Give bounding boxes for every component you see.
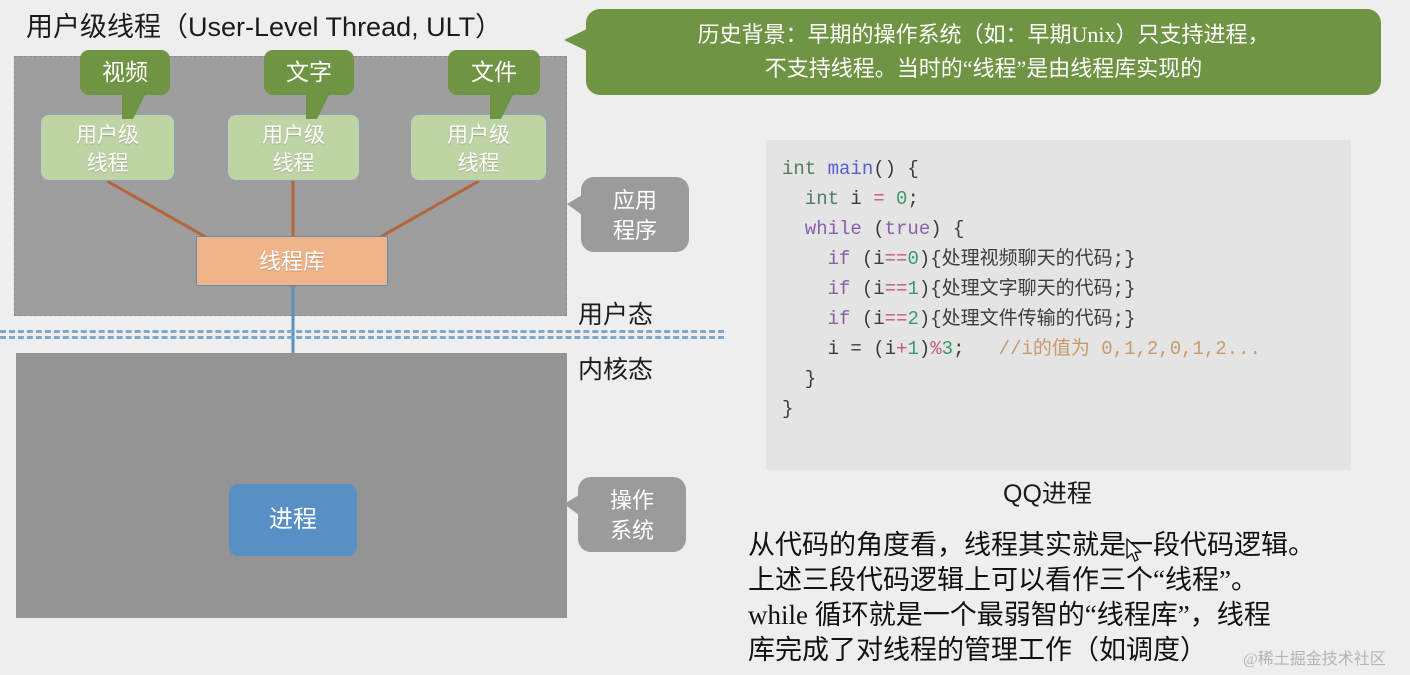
code-token: ;	[907, 188, 918, 210]
bubble-video-label: 视频	[102, 60, 148, 85]
code-token: ){处理文件传输的代码;}	[919, 308, 1136, 330]
code-token: ){处理视频聊天的代码;}	[919, 248, 1136, 270]
user-level-thread-box-2: 用户级 线程	[227, 114, 360, 181]
history-callout-line-1: 历史背景：早期的操作系统（如：早期Unix）只支持进程，	[608, 18, 1359, 52]
explanation-line-1: 从代码的角度看，线程其实就是一段代码逻辑。	[748, 528, 1398, 563]
code-line-2: int i = 0;	[782, 184, 1351, 214]
code-token: 2	[907, 308, 918, 330]
bubble-file: 文件	[448, 50, 540, 95]
code-token: 1	[907, 278, 918, 300]
watermark: @稀土掘金技术社区	[1243, 645, 1386, 669]
bubble-file-label: 文件	[471, 60, 517, 85]
code-token: (i	[862, 248, 885, 270]
bubble-tail-icon	[490, 93, 514, 119]
code-token: if	[782, 308, 862, 330]
ult-box-1-line-1: 用户级	[41, 121, 174, 149]
ult-box-1-line-2: 线程	[41, 149, 174, 177]
callout-tail-icon	[564, 495, 579, 515]
mouse-cursor-icon	[1126, 538, 1144, 564]
code-token: while	[782, 218, 873, 240]
code-token: i	[850, 188, 873, 210]
callout-os-line-2: 系统	[578, 516, 686, 546]
code-line-1: int main() {	[782, 154, 1351, 184]
code-token: (	[873, 218, 884, 240]
code-token: main	[828, 158, 874, 180]
code-caption: QQ进程	[1003, 474, 1092, 510]
code-token: }	[782, 398, 793, 420]
ult-box-2-line-2: 线程	[228, 149, 359, 177]
code-line-5: if (i==1){处理文字聊天的代码;}	[782, 274, 1351, 304]
code-line-4: if (i==0){处理视频聊天的代码;}	[782, 244, 1351, 274]
code-token: ==	[885, 278, 908, 300]
callout-application-line-1: 应用	[581, 186, 689, 216]
code-token: int	[782, 188, 850, 210]
code-line-7: i = (i+1)%3; //i的值为 0,1,2,0,1,2...	[782, 334, 1351, 364]
code-line-8: }	[782, 364, 1351, 394]
callout-application-line-2: 程序	[581, 216, 689, 246]
label-kernel-mode: 内核态	[578, 350, 653, 386]
code-token: if	[782, 278, 862, 300]
callout-operating-system: 操作 系统	[578, 477, 686, 552]
code-token: int	[782, 158, 828, 180]
callout-application: 应用 程序	[581, 177, 689, 252]
bubble-text-label: 文字	[286, 60, 332, 85]
code-line-9: }	[782, 394, 1351, 424]
ult-box-2-line-1: 用户级	[228, 121, 359, 149]
callout-tail-icon	[564, 29, 587, 51]
code-token: i = (i	[782, 338, 896, 360]
user-level-thread-box-3: 用户级 线程	[410, 114, 547, 181]
code-token: 0	[907, 248, 918, 270]
code-token: }	[782, 368, 816, 390]
code-snippet: int main() { int i = 0; while (true) { i…	[766, 140, 1351, 470]
code-token: (i	[862, 308, 885, 330]
bubble-tail-icon	[306, 93, 330, 119]
history-background-callout: 历史背景：早期的操作系统（如：早期Unix）只支持进程， 不支持线程。当时的“线…	[586, 9, 1381, 95]
process-box: 进程	[229, 484, 357, 556]
code-token: () {	[873, 158, 919, 180]
code-token: ==	[885, 308, 908, 330]
bubble-tail-icon	[122, 93, 146, 119]
code-token: ;	[953, 338, 999, 360]
code-line-6: if (i==2){处理文件传输的代码;}	[782, 304, 1351, 334]
explanation-line-3: while 循环就是一个最弱智的“线程库”，线程	[748, 598, 1398, 633]
code-token: ){处理文字聊天的代码;}	[919, 278, 1136, 300]
label-user-mode: 用户态	[578, 295, 653, 331]
code-token: +	[896, 338, 907, 360]
code-token: //i的值为 0,1,2,0,1,2...	[999, 338, 1261, 360]
code-token: )	[919, 338, 930, 360]
code-line-3: while (true) {	[782, 214, 1351, 244]
user-kernel-divider	[0, 330, 724, 338]
divider-line-bottom	[0, 336, 724, 339]
callout-os-line-1: 操作	[578, 486, 686, 516]
code-token: (i	[862, 278, 885, 300]
bubble-video: 视频	[80, 50, 170, 95]
explanation-line-2: 上述三段代码逻辑上可以看作三个“线程”。	[748, 563, 1398, 598]
code-token: 1	[907, 338, 918, 360]
ult-box-3-line-1: 用户级	[411, 121, 546, 149]
callout-tail-icon	[567, 195, 582, 215]
thread-library-box: 线程库	[196, 236, 388, 286]
code-token: =	[873, 188, 896, 210]
code-token: %	[930, 338, 941, 360]
code-token: 3	[942, 338, 953, 360]
history-callout-line-2: 不支持线程。当时的“线程”是由线程库实现的	[608, 52, 1359, 86]
bubble-text: 文字	[264, 50, 354, 95]
slide-canvas: 用户级线程（User-Level Thread, ULT） 历史背景：早期的操作…	[0, 0, 1410, 675]
code-token: 0	[896, 188, 907, 210]
code-token: if	[782, 248, 862, 270]
page-title: 用户级线程（User-Level Thread, ULT）	[26, 11, 502, 44]
user-level-thread-box-1: 用户级 线程	[40, 114, 175, 181]
code-token: true	[885, 218, 931, 240]
code-token: ) {	[930, 218, 964, 240]
code-token: ==	[885, 248, 908, 270]
ult-box-3-line-2: 线程	[411, 149, 546, 177]
